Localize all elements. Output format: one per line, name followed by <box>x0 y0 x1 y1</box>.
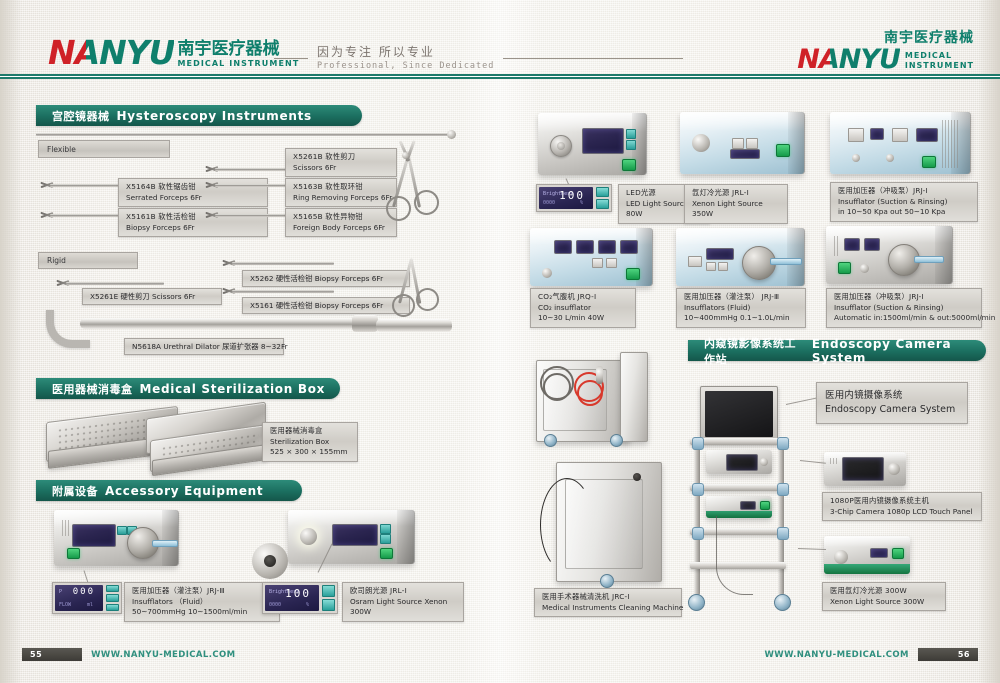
device-camera-connector[interactable] <box>888 463 900 475</box>
section-header-camera-system: 内窥镜影像系统工作站 Endoscopy Camera System <box>688 340 986 361</box>
device-grill <box>62 520 69 536</box>
header-divider <box>0 74 1000 79</box>
device-grill <box>834 236 840 256</box>
group-tag-rigid: Rigid <box>38 252 138 269</box>
trolley-joint <box>777 483 789 496</box>
lcd-inset-keys[interactable] <box>322 585 335 611</box>
trolley-light-source-unit <box>706 496 772 518</box>
callout-foreign-body-forceps: X5165B 软性异物钳 Foreign Body Forceps 6Fr <box>285 208 397 237</box>
callout-en: Serrated Forceps 6Fr <box>126 193 260 204</box>
device-top-highlight <box>680 112 804 131</box>
device-port-2 <box>886 154 894 162</box>
callout-co2-insufflator: CO₂气腹机 JRQ-Ⅰ CO₂ insufflator 10~30 L/min… <box>530 288 636 328</box>
device-power-button[interactable] <box>626 268 640 280</box>
callout-en: Endoscopy Camera System <box>825 403 959 417</box>
trolley-joint <box>692 483 704 496</box>
callout-scissors-flex: X5261B 软性剪刀 Scissors 6Fr <box>285 148 397 177</box>
section-title-en: Accessory Equipment <box>105 484 263 498</box>
lcd-inset-keys[interactable] <box>596 187 609 209</box>
lcd-value: 000 <box>73 587 95 597</box>
ring-forceps-shaft <box>215 184 290 187</box>
callout-en: 3-Chip Camera 1080p LCD Touch Panel <box>830 507 974 518</box>
callout-en: Medical Instruments Cleaning Machine <box>542 603 674 614</box>
device-key-2 <box>746 138 758 149</box>
device-xenon-300w <box>824 536 910 574</box>
device-display <box>740 501 756 510</box>
device-display <box>726 454 758 471</box>
callout-rigid-biopsy-x5161: X5161 硬性活检钳 Biopsy Forceps 6Fr <box>242 297 410 314</box>
rigid-biopsy-shaft-2 <box>232 290 334 293</box>
footer-right: WWW.NANYU-MEDICAL.COM 56 <box>756 648 978 661</box>
device-side-shadow <box>935 226 953 284</box>
device-insufflator-fluid-2 <box>676 228 804 286</box>
callout-cn: 医用手术器械清洗机 JRC-Ⅰ <box>542 592 674 603</box>
dilator-curved-tip <box>46 310 90 348</box>
device-power-button[interactable] <box>67 548 80 559</box>
catalog-page: NANYU 南宇医疗器械 MEDICAL INSTRUMENT 因为专注 所以专… <box>0 0 1000 683</box>
callout-cleaning-machine: 医用手术器械清洗机 JRC-Ⅰ Medical Instruments Clea… <box>534 588 682 617</box>
callout-en: Insufflators (Fluid) <box>684 303 798 314</box>
device-display <box>730 149 760 159</box>
callout-xenon-light-source: 氙灯冷光源 JRL-Ⅰ Xenon Light Source 350W <box>684 184 788 224</box>
dilator-hub <box>352 315 378 332</box>
callout-spec: 10~400mmHg 0.1~1.0L/min <box>684 313 798 324</box>
device-key-2 <box>626 140 636 150</box>
device-power-button[interactable] <box>922 156 936 168</box>
device-insufflator-suction-rinsing-1 <box>830 112 970 174</box>
device-tube <box>914 256 944 263</box>
callout-cn: 氙灯冷光源 JRL-Ⅰ <box>692 188 780 199</box>
device-insufflator-fluid <box>54 510 178 566</box>
device-display-2 <box>576 240 594 254</box>
callout-cn: X5165B 软性异物钳 <box>293 212 389 223</box>
callout-en: Insufflator (Suction & Rinsing) <box>838 197 970 208</box>
brand-subtitle-right-1: MEDICAL <box>905 51 974 61</box>
slogan-dash-left <box>274 58 308 59</box>
brand-logo-right: 南宇医疗器械 NANYU MEDICAL INSTRUMENT <box>797 31 974 73</box>
callout-cn: 1080P医用内镜摄像系统主机 <box>830 496 974 507</box>
device-key-3 <box>718 262 728 271</box>
callout-spec: 50~700mmHg 10~1500ml/min <box>132 607 272 618</box>
device-osram-light-source <box>288 510 414 564</box>
monitor-screen <box>705 391 773 437</box>
device-green-band <box>824 564 910 574</box>
callout-en: Xenon Light Source <box>692 199 780 210</box>
rigid-biopsy-shaft-1 <box>232 262 334 265</box>
device-key-1 <box>732 138 744 149</box>
device-top-highlight <box>676 228 804 245</box>
forceps-ring-b <box>414 190 439 215</box>
callout-cn: 欧司朗光源 JRL-Ⅰ <box>350 586 456 597</box>
section-header-sterilization: 医用器械消毒盒 Medical Sterilization Box <box>36 378 340 399</box>
device-insufflator-suction-auto <box>826 226 952 284</box>
lcd-unit: % <box>306 602 309 608</box>
slogan-en: Professional, Since Dedicated <box>317 61 494 71</box>
callout-cn: 医用加压器（冲吸泵）JRJ-Ⅰ <box>834 292 974 303</box>
device-key-1 <box>626 129 636 139</box>
callout-rigid-biopsy-x5262: X5262 硬性活检钳 Biopsy Forceps 6Fr <box>242 270 410 287</box>
device-key-2 <box>706 262 716 271</box>
device-port-1 <box>852 154 860 162</box>
device-display <box>72 524 116 547</box>
trolley-post-right <box>778 438 784 596</box>
device-port <box>860 264 869 273</box>
section-title-cn: 医用器械消毒盒 <box>52 381 133 397</box>
lcd-line-3: FLOW <box>59 602 71 608</box>
callout-camera-system: 医用内镜摄像系统 Endoscopy Camera System <box>816 382 968 424</box>
callout-rigid-scissors: X5261E 硬性剪刀 Scissors 6Fr <box>82 288 222 305</box>
device-led-light-source <box>538 113 646 175</box>
callout-cn: X5163B 软性取环钳 <box>293 182 389 193</box>
page-number-left: 55 <box>22 648 82 661</box>
callout-spec: 350W <box>692 209 780 220</box>
callout-en: CO₂ insufflator <box>538 303 628 314</box>
section-title-en: Endoscopy Camera System <box>812 337 986 365</box>
device-key-1 <box>592 258 603 268</box>
callout-insufflator-suction-auto: 医用加压器（冲吸泵）JRJ-Ⅰ Insufflator (Suction & R… <box>826 288 982 328</box>
callout-cn: X5261B 软性剪刀 <box>293 152 389 163</box>
callout-cn: CO₂气腹机 JRQ-Ⅰ <box>538 292 628 303</box>
brand-logo-left: NANYU 南宇医疗器械 MEDICAL INSTRUMENT <box>48 36 299 69</box>
scissors-shaft <box>215 168 290 171</box>
slogan: 因为专注 所以专业 Professional, Since Dedicated <box>265 46 692 71</box>
callout-text: X5262 硬性活检钳 Biopsy Forceps 6Fr <box>250 274 402 283</box>
trolley-caster-right <box>774 594 791 611</box>
device-display <box>706 248 734 260</box>
brand-name-cn-right: 南宇医疗器械 <box>797 31 974 45</box>
device-power-button[interactable] <box>776 144 790 157</box>
device-power-button[interactable] <box>622 159 636 171</box>
rigid-scissors-shaft <box>66 282 164 285</box>
trolley-joint <box>777 437 789 450</box>
spray-gun <box>596 366 603 384</box>
leader-line-1080p <box>800 460 826 464</box>
device-dial[interactable] <box>550 135 572 157</box>
device-display-4 <box>620 240 638 254</box>
callout-insufflator-fluid: 医用加压器（灌注泵）JRJ-Ⅲ Insufflators （Fluid） 50~… <box>124 582 280 622</box>
callout-cn: 医用内镜摄像系统 <box>825 389 959 403</box>
device-1080p-camera <box>824 452 906 486</box>
lcd-inset-led: Brightness 100 0000 % <box>536 184 612 212</box>
page-number-right: 56 <box>918 648 978 661</box>
callout-en: Scissors 6Fr <box>293 163 389 174</box>
callout-en: Osram Light Source Xenon <box>350 597 456 608</box>
device-xenon-light-source <box>680 112 804 174</box>
section-header-hysteroscopy: 宫腔镜器械 Hysteroscopy Instruments <box>36 105 362 126</box>
cleaning-hose <box>540 478 594 572</box>
dilator-handle <box>376 319 452 332</box>
caster-wheel <box>544 434 557 447</box>
footer-left: 55 WWW.NANYU-MEDICAL.COM <box>22 648 244 661</box>
trolley-joint <box>692 437 704 450</box>
device-touch-panel[interactable] <box>842 457 884 481</box>
page-footer: 55 WWW.NANYU-MEDICAL.COM WWW.NANYU-MEDIC… <box>0 647 1000 683</box>
callout-en: Ring Removing Forceps 6Fr <box>293 193 389 204</box>
callout-en: Biopsy Forceps 6Fr <box>126 223 260 234</box>
lcd-value: 100 <box>285 587 311 600</box>
device-side-shadow <box>787 228 805 286</box>
section-title-cn: 宫腔镜器械 <box>52 108 110 124</box>
trolley-camera-unit <box>706 450 772 474</box>
lcd-inset-keys[interactable] <box>106 585 119 611</box>
forceps-ring-a <box>386 196 411 221</box>
device-side-shadow <box>162 510 179 566</box>
device-key-1 <box>380 524 391 534</box>
lcd-sub: 0000 <box>543 200 555 206</box>
light-guide-center <box>264 555 276 567</box>
callout-biopsy-forceps-flex: X5161B 软性活检钳 Biopsy Forceps 6Fr <box>118 208 268 237</box>
callout-spec: in 10~50 Kpa out 50~10 Kpa <box>838 207 970 218</box>
device-key-1 <box>117 526 127 535</box>
device-grill <box>830 458 838 464</box>
callout-en: Insufflator (Suction & Rinsing) <box>834 303 974 314</box>
callout-cn: 医用加压器（灌注泵）JRJ-Ⅲ <box>132 586 272 597</box>
callout-text: X5261E 硬性剪刀 Scissors 6Fr <box>90 292 214 301</box>
lcd-screen: Brightness 100 0000 % <box>265 585 319 611</box>
lcd-screen: P 000 FLOW ml <box>55 585 103 611</box>
instrument-shaft-long <box>36 133 451 136</box>
callout-spec: 10~30 L/min 40W <box>538 313 628 324</box>
light-port <box>692 134 710 152</box>
trolley-joint <box>692 527 704 540</box>
device-display-1 <box>870 128 884 140</box>
callout-text: N5618A Urethral Dilator 尿道扩张器 8~32Fr <box>132 342 276 351</box>
group-tag-flexible: Flexible <box>38 140 170 158</box>
device-top-highlight <box>824 536 910 547</box>
lcd-line-1: P <box>59 589 62 595</box>
device-power-button[interactable] <box>838 262 851 274</box>
callout-en: Sterilization Box <box>270 437 350 448</box>
callout-insufflator-suction-1: 医用加压器（冲吸泵）JRJ-Ⅰ Insufflator (Suction & R… <box>830 182 978 222</box>
group-tag-flexible-label: Flexible <box>47 145 76 154</box>
air-hose-coil-grey-2 <box>543 373 571 401</box>
callout-spec: 525 × 300 × 155mm <box>270 447 350 458</box>
callout-urethral-dilator: N5618A Urethral Dilator 尿道扩张器 8~32Fr <box>124 338 284 355</box>
slogan-cn: 因为专注 所以专业 <box>317 46 494 59</box>
device-grill <box>942 120 960 168</box>
callout-sterilization-box: 医用器械消毒盒 Sterilization Box 525 × 300 × 15… <box>262 422 358 462</box>
trolley-post-left <box>694 438 700 596</box>
device-display-2 <box>864 238 880 251</box>
device-key-2 <box>380 534 391 544</box>
brand-subtitle-right-2: INSTRUMENT <box>905 61 974 71</box>
callout-insufflator-fluid-2: 医用加压器（灌注泵） JRJ-Ⅲ Insufflators (Fluid) 10… <box>676 288 806 328</box>
trolley-caster-left <box>688 594 705 611</box>
device-tube <box>152 540 178 547</box>
device-key-2 <box>606 258 617 268</box>
cleaning-machine-top-side <box>620 352 648 442</box>
device-power-button[interactable] <box>380 548 393 559</box>
device-side-shadow <box>788 112 805 174</box>
footer-url-left[interactable]: WWW.NANYU-MEDICAL.COM <box>91 650 235 660</box>
instrument-tip-knob <box>447 130 456 139</box>
trolley-cable <box>716 516 753 595</box>
slogan-dash-right <box>503 58 683 59</box>
device-tube <box>770 258 802 265</box>
footer-url-right[interactable]: WWW.NANYU-MEDICAL.COM <box>765 650 909 660</box>
group-tag-rigid-label: Rigid <box>47 256 66 265</box>
callout-osram-light-source: 欧司朗光源 JRL-Ⅰ Osram Light Source Xenon 300… <box>342 582 464 622</box>
lcd-inset-light-source: Brightness 100 0000 % <box>262 582 338 614</box>
light-port <box>834 550 848 564</box>
caster-wheel <box>610 434 623 447</box>
callout-en: Insufflators （Fluid） <box>132 597 272 608</box>
page-edge-left <box>0 0 22 683</box>
lcd-inset-insufflator: P 000 FLOW ml <box>52 582 122 614</box>
callout-en: Xenon Light Source 300W <box>830 597 938 608</box>
trolley-joint <box>777 527 789 540</box>
device-power-button[interactable] <box>760 501 770 510</box>
device-display <box>332 524 378 546</box>
forceps-pivot <box>402 152 409 159</box>
foreign-body-forceps-shaft <box>215 214 290 217</box>
device-key-1 <box>848 128 864 142</box>
device-display-3 <box>598 240 616 254</box>
brand-wordmark: NANYU <box>48 36 174 69</box>
light-port-knob <box>300 528 317 545</box>
callout-spec: 300W <box>350 607 456 618</box>
callout-1080p-camera: 1080P医用内镜摄像系统主机 3-Chip Camera 1080p LCD … <box>822 492 982 521</box>
callout-cn: 医用加压器（灌注泵） JRJ-Ⅲ <box>684 292 798 303</box>
device-gas-port <box>542 268 552 278</box>
device-key-1 <box>688 256 702 267</box>
device-display-2 <box>916 128 938 142</box>
edge-forceps-ring-a <box>392 294 415 317</box>
device-display-1 <box>844 238 860 251</box>
lcd-sub: 0000 <box>269 602 281 608</box>
section-title-cn: 附属设备 <box>52 483 98 499</box>
callout-en: Foreign Body Forceps 6Fr <box>293 223 389 234</box>
section-header-accessory: 附属设备 Accessory Equipment <box>36 480 302 501</box>
callout-text: X5161 硬性活检钳 Biopsy Forceps 6Fr <box>250 301 402 310</box>
device-side-shadow <box>397 510 415 564</box>
callout-ring-removing-forceps: X5163B 软性取环钳 Ring Removing Forceps 6Fr <box>285 178 397 207</box>
callout-xenon-300w: 医用氙灯冷光源 300W Xenon Light Source 300W <box>822 582 946 611</box>
section-title-en: Hysteroscopy Instruments <box>117 109 312 123</box>
trolley-shelf-1 <box>690 438 786 445</box>
device-power-button[interactable] <box>892 548 904 559</box>
device-connector[interactable] <box>760 458 768 466</box>
callout-serrated-forceps: X5164B 软性锯齿钳 Serrated Forceps 6Fr <box>118 178 268 207</box>
device-co2-insufflator <box>530 228 652 286</box>
callout-cn: 医用氙灯冷光源 300W <box>830 586 938 597</box>
device-display <box>870 548 888 558</box>
device-display <box>582 128 624 154</box>
dilator-body <box>80 318 355 329</box>
lcd-unit: % <box>580 200 583 206</box>
device-display-1 <box>554 240 572 254</box>
callout-spec: Automatic in:1500ml/min & out:5000ml/min <box>834 313 974 324</box>
lcd-line-4: ml <box>87 602 93 608</box>
trolley-shelf-2 <box>690 484 786 491</box>
page-header: NANYU 南宇医疗器械 MEDICAL INSTRUMENT 因为专注 所以专… <box>0 0 1000 80</box>
cabinet-indicator <box>633 473 641 481</box>
trolley-monitor <box>700 386 778 442</box>
leader-line-xenon-300w <box>798 548 826 550</box>
caster-wheel <box>600 574 614 588</box>
callout-cn: 医用器械消毒盒 <box>270 426 350 437</box>
callout-cn: 医用加压器（冲吸泵）JRJ-Ⅰ <box>838 186 970 197</box>
lcd-screen: Brightness 100 0000 % <box>539 187 593 209</box>
section-title-en: Medical Sterilization Box <box>140 382 326 396</box>
brand-wordmark-right: NANYU <box>797 46 900 73</box>
edge-forceps-ring-b <box>416 288 439 311</box>
section-title-cn: 内窥镜影像系统工作站 <box>704 335 805 367</box>
device-key-2 <box>892 128 908 142</box>
